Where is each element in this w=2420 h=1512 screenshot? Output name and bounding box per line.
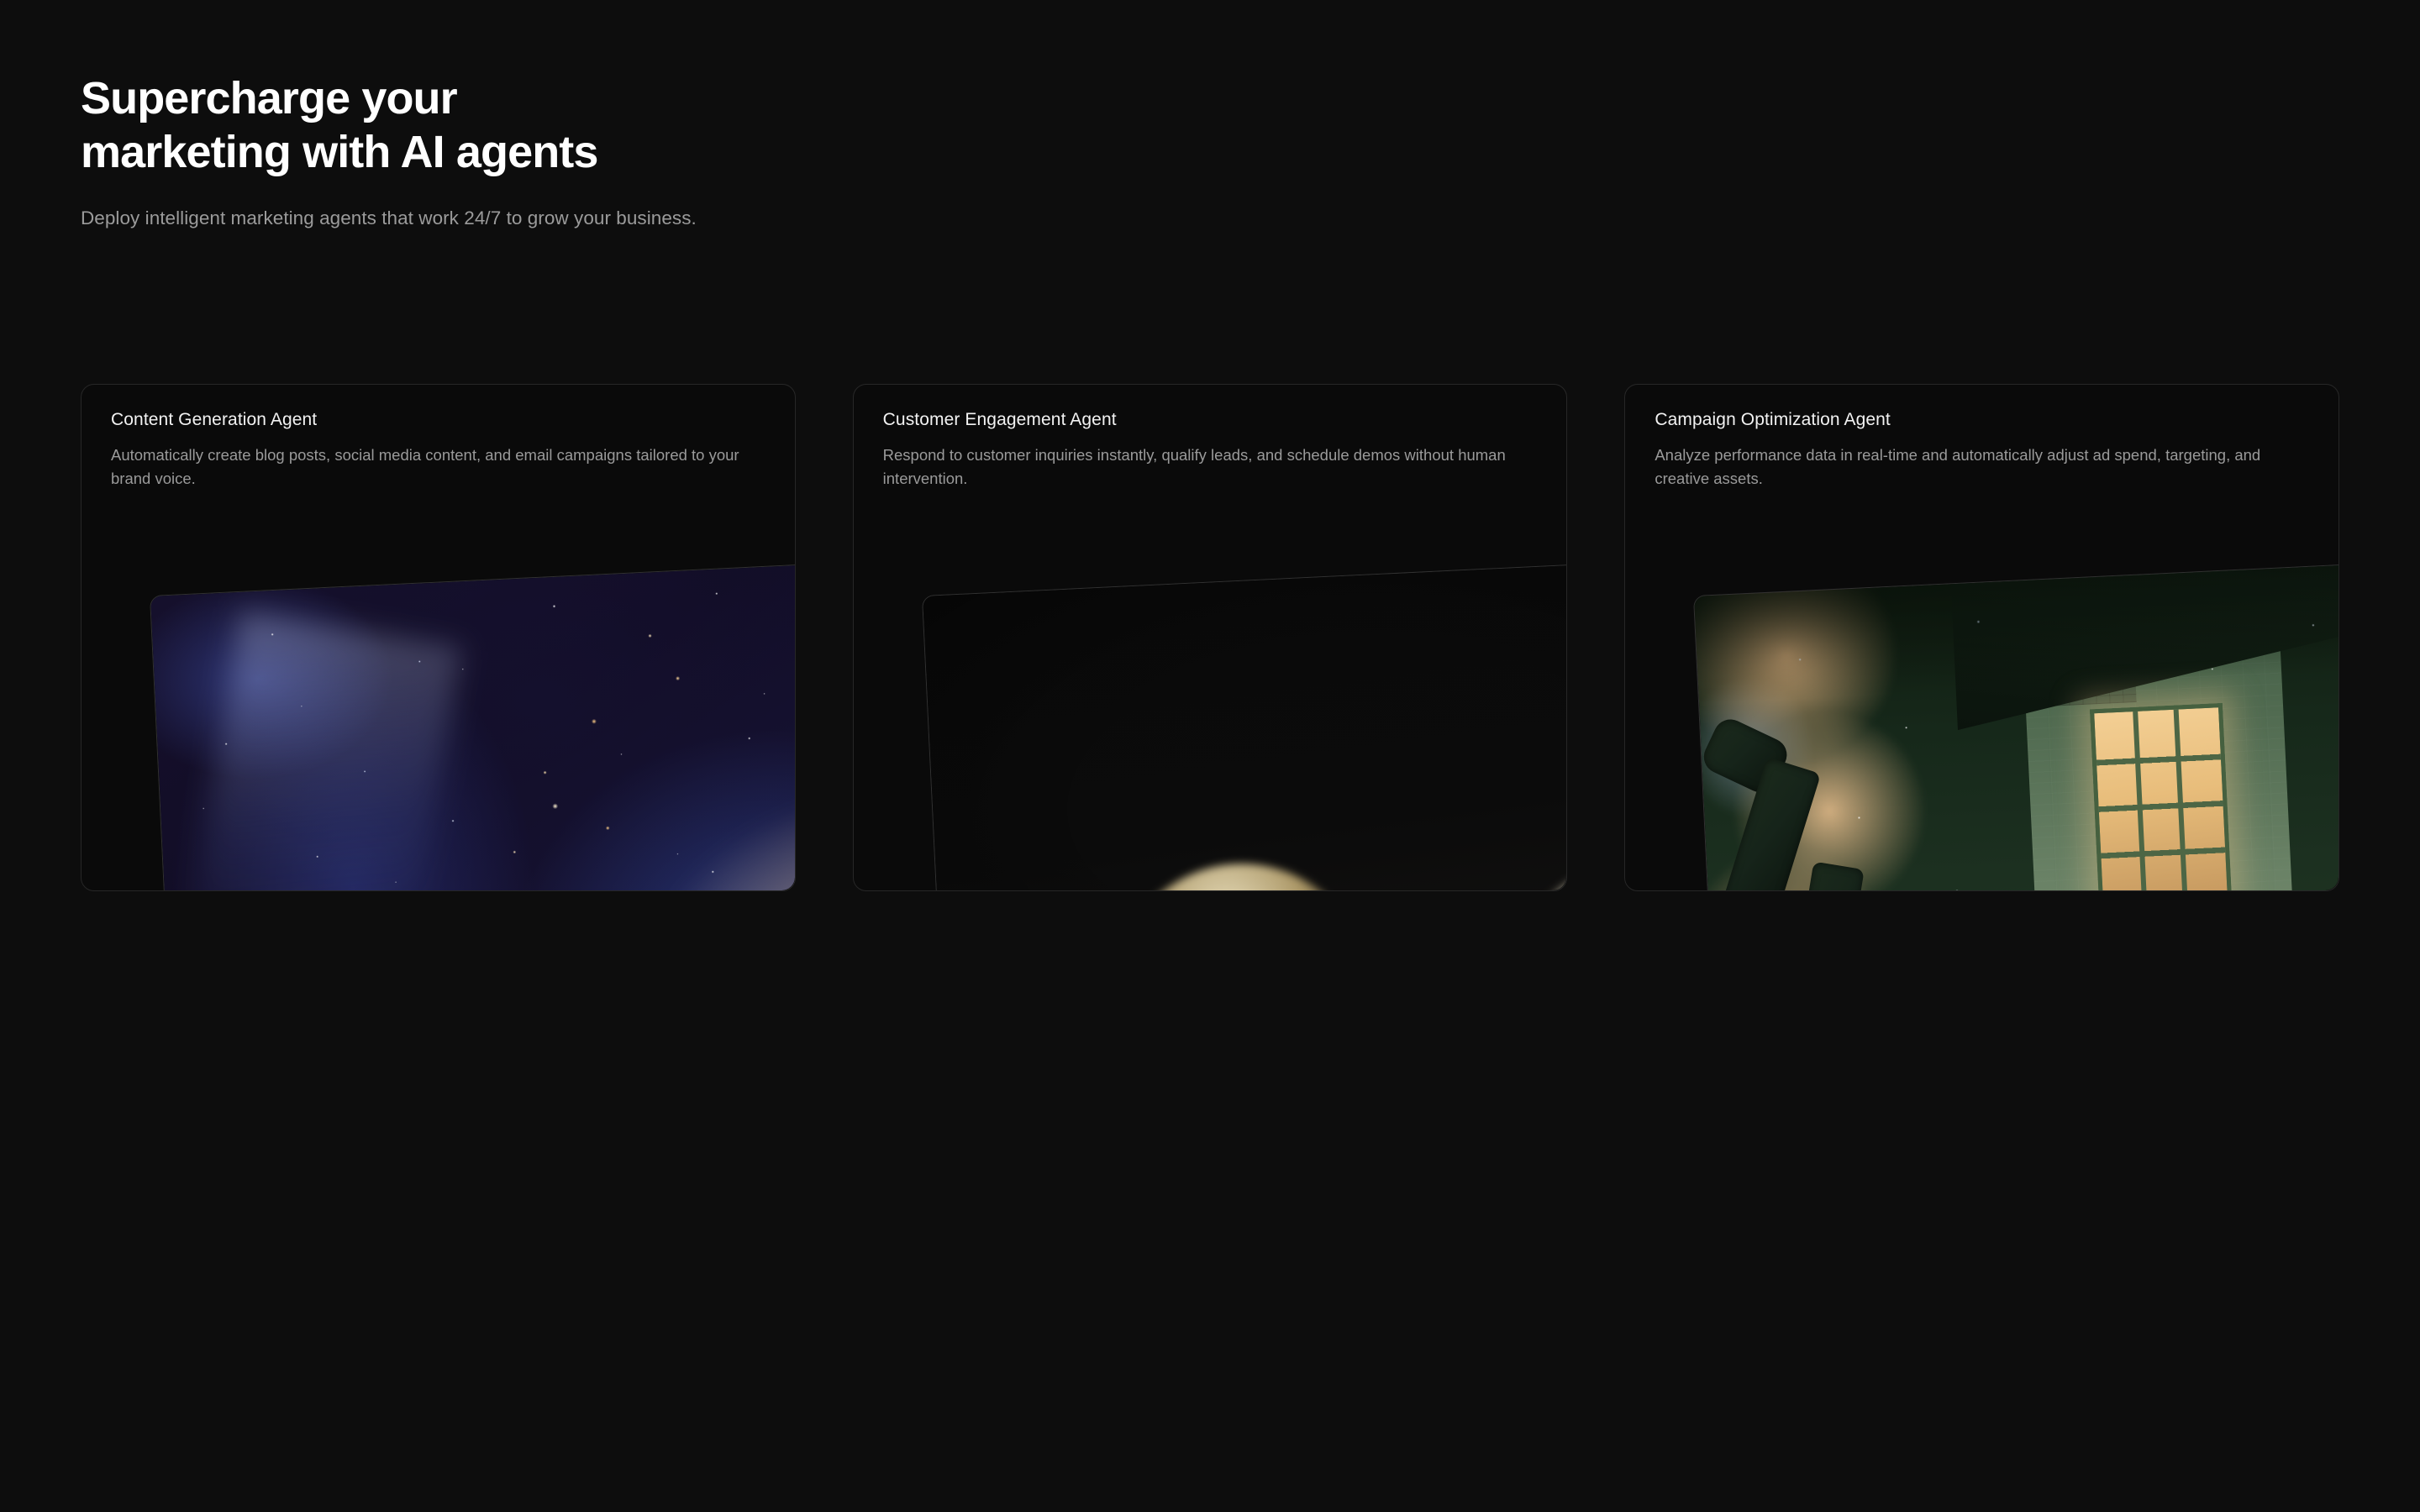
- page-title: Supercharge your marketing with AI agent…: [81, 72, 1425, 179]
- card-media-plate: [1694, 555, 2338, 890]
- card-description: Respond to customer inquiries instantly,…: [883, 444, 1522, 491]
- star-layer-faint: [150, 555, 795, 890]
- house-nebula-image: [1694, 555, 2338, 890]
- nebula-starfield-image: [150, 555, 795, 890]
- agent-card-content-generation[interactable]: Content Generation Agent Automatically c…: [81, 384, 796, 891]
- card-media-plate: [923, 555, 1567, 890]
- card-title: Content Generation Agent: [111, 410, 317, 430]
- card-title: Campaign Optimization Agent: [1655, 410, 1891, 430]
- card-media-plate: [150, 555, 795, 890]
- hero-section: Supercharge your marketing with AI agent…: [81, 72, 1425, 229]
- image-vignette: [1694, 555, 2338, 890]
- agent-card-campaign-optimization[interactable]: Campaign Optimization Agent Analyze perf…: [1624, 384, 2339, 891]
- card-description: Analyze performance data in real-time an…: [1655, 444, 2293, 491]
- card-description: Automatically create blog posts, social …: [111, 444, 750, 491]
- card-title: Customer Engagement Agent: [883, 410, 1117, 430]
- golden-figure-image: [923, 555, 1567, 890]
- agent-card-customer-engagement[interactable]: Customer Engagement Agent Respond to cus…: [853, 384, 1568, 891]
- page-root: Supercharge your marketing with AI agent…: [0, 0, 2420, 1512]
- agent-card-grid: Content Generation Agent Automatically c…: [81, 384, 2339, 891]
- image-vignette: [923, 555, 1567, 890]
- page-subtitle: Deploy intelligent marketing agents that…: [81, 207, 1425, 229]
